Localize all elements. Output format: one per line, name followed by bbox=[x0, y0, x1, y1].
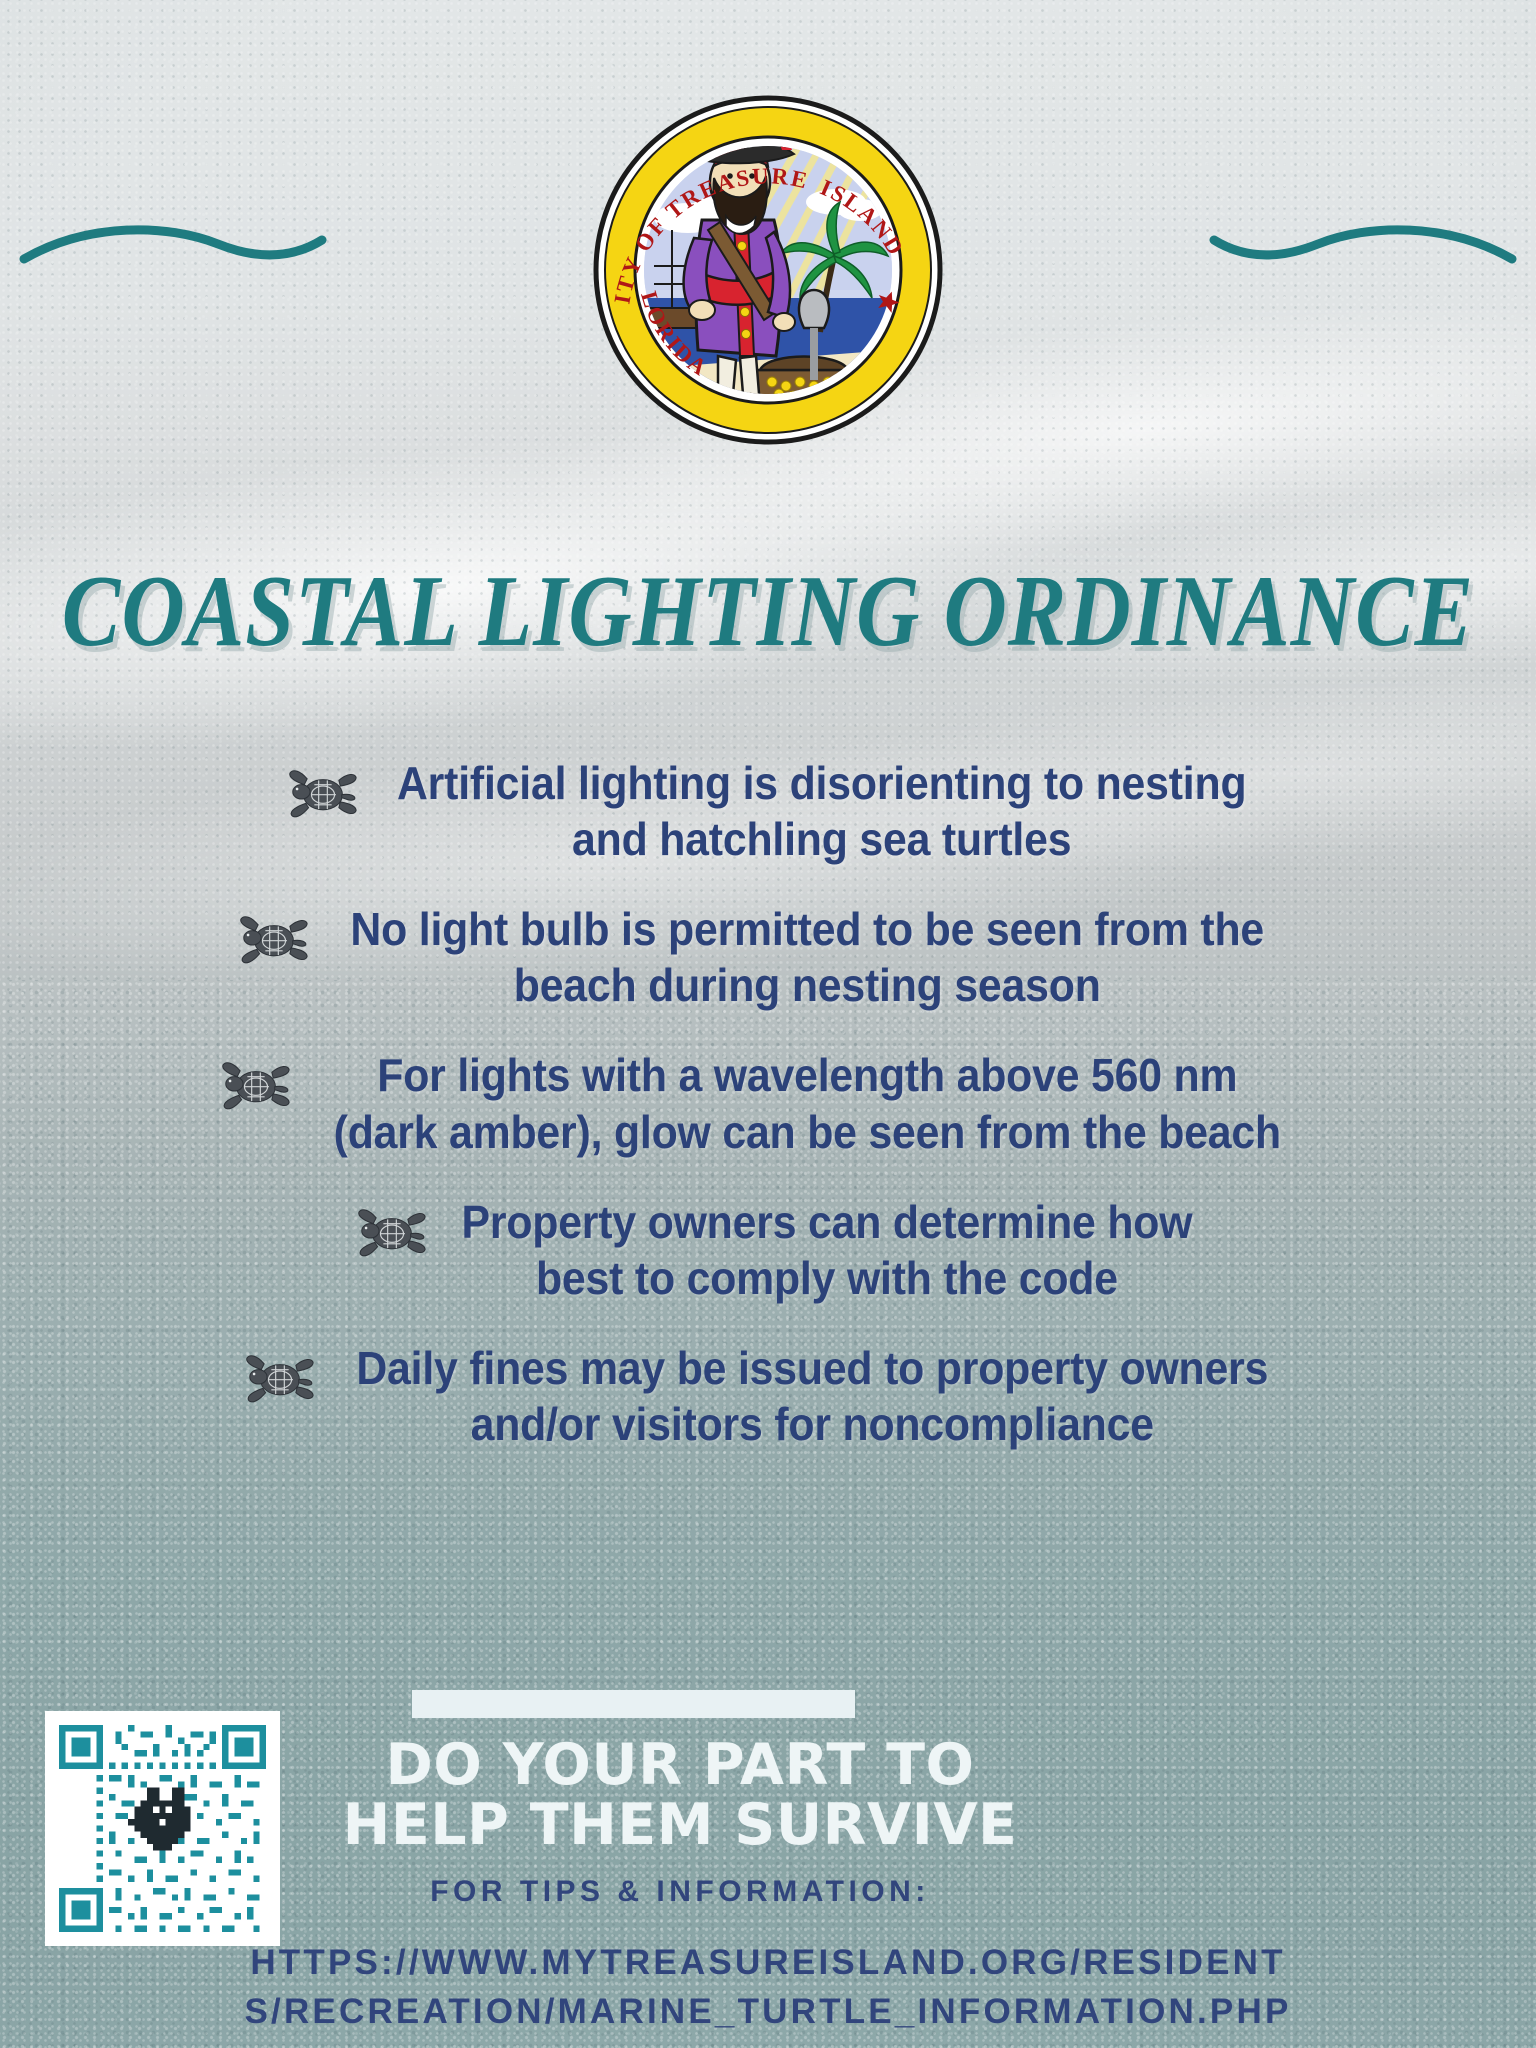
sea-turtle-icon bbox=[287, 763, 359, 825]
qr-code[interactable] bbox=[45, 1711, 280, 1946]
poster-header: NESTING SEASON MAY 1 - OCTOBER 31! bbox=[0, 0, 1536, 470]
list-item: No light bulb is permitted to be seen fr… bbox=[0, 901, 1536, 1013]
list-item-text: Artificial lighting is disorienting to n… bbox=[397, 755, 1246, 867]
tips-label: FOR TIPS & INFORMATION: bbox=[300, 1875, 1060, 1909]
list-item-text: Daily fines may be issued to property ow… bbox=[356, 1340, 1268, 1452]
call-to-action: DO YOUR PART TO HELP THEM SURVIVE bbox=[300, 1735, 1060, 1856]
page-title: COASTAL LIGHTING ORDINANCE bbox=[0, 560, 1536, 661]
url-line-1: HTTPS://WWW.MYTREASUREISLAND.ORG/RESIDEN… bbox=[30, 1938, 1506, 1987]
list-item-text: For lights with a wavelength above 560 n… bbox=[333, 1047, 1280, 1159]
coastal-lighting-ordinance-poster: NESTING SEASON MAY 1 - OCTOBER 31! bbox=[0, 0, 1536, 2048]
url-line-2: S/RECREATION/MARINE_TURTLE_INFORMATION.P… bbox=[30, 1987, 1506, 2036]
wave-divider-right-icon bbox=[1208, 214, 1518, 274]
ordinance-bullet-list: Artificial lighting is disorienting to n… bbox=[0, 755, 1536, 1486]
list-item: Daily fines may be issued to property ow… bbox=[0, 1340, 1536, 1452]
sea-turtle-icon bbox=[220, 1055, 292, 1117]
list-item: Artificial lighting is disorienting to n… bbox=[0, 755, 1536, 867]
cta-line-1: DO YOUR PART TO bbox=[300, 1735, 1060, 1795]
wave-divider-left-icon bbox=[18, 214, 328, 274]
sea-turtle-icon bbox=[238, 909, 310, 971]
sea-turtle-icon bbox=[356, 1202, 428, 1264]
list-item-text: No light bulb is permitted to be seen fr… bbox=[350, 901, 1264, 1013]
city-seal: CITY OF TREASURE ISLAND FLORIDA bbox=[568, 70, 968, 470]
list-item: Property owners can determine how best t… bbox=[0, 1194, 1536, 1306]
list-item-text: Property owners can determine how best t… bbox=[462, 1194, 1193, 1306]
cta-line-2: HELP THEM SURVIVE bbox=[300, 1795, 1060, 1855]
info-url[interactable]: HTTPS://WWW.MYTREASUREISLAND.ORG/RESIDEN… bbox=[30, 1938, 1506, 2036]
list-item: For lights with a wavelength above 560 n… bbox=[0, 1047, 1536, 1159]
sea-turtle-icon bbox=[244, 1348, 316, 1410]
decorative-bar bbox=[412, 1690, 855, 1718]
